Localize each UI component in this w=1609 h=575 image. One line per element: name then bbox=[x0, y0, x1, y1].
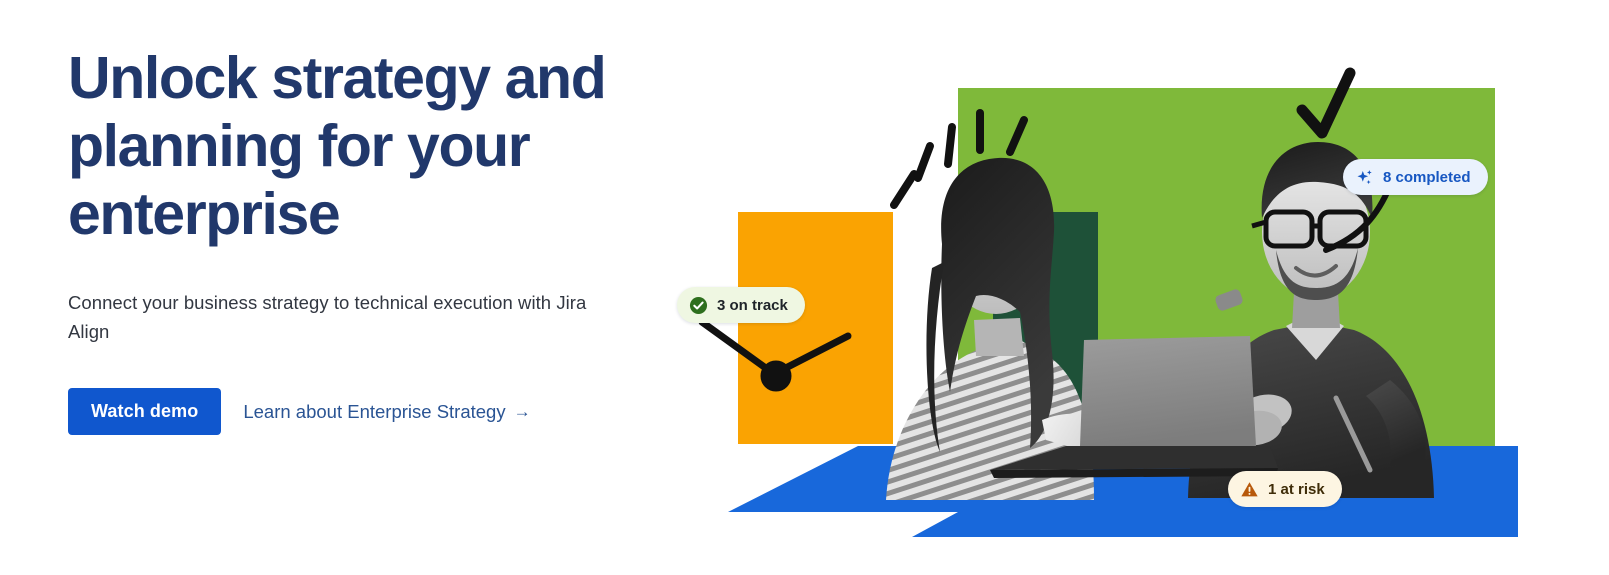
check-circle-icon bbox=[689, 296, 708, 315]
status-badge-on-track-label: 3 on track bbox=[717, 297, 788, 314]
page-title: Unlock strategy and planning for your en… bbox=[68, 44, 608, 248]
hero-section: Unlock strategy and planning for your en… bbox=[0, 0, 1609, 575]
warning-triangle-icon bbox=[1240, 480, 1259, 499]
watch-demo-button[interactable]: Watch demo bbox=[68, 388, 221, 435]
block-orange bbox=[738, 212, 893, 444]
hero-illustration bbox=[690, 0, 1609, 575]
status-badge-completed: 8 completed bbox=[1343, 159, 1488, 195]
hero-copy: Unlock strategy and planning for your en… bbox=[68, 44, 688, 435]
arrow-right-icon: → bbox=[514, 403, 531, 420]
learn-link-label: Learn about Enterprise Strategy bbox=[243, 401, 505, 423]
sparkle-icon bbox=[1355, 168, 1374, 187]
cta-row: Watch demo Learn about Enterprise Strate… bbox=[68, 388, 688, 435]
status-badge-completed-label: 8 completed bbox=[1383, 169, 1471, 186]
status-badge-at-risk-label: 1 at risk bbox=[1268, 481, 1325, 498]
status-badge-on-track: 3 on track bbox=[677, 287, 805, 323]
status-badge-at-risk: 1 at risk bbox=[1228, 471, 1342, 507]
hero-subheading: Connect your business strategy to techni… bbox=[68, 288, 628, 346]
learn-about-enterprise-strategy-link[interactable]: Learn about Enterprise Strategy → bbox=[243, 401, 530, 423]
